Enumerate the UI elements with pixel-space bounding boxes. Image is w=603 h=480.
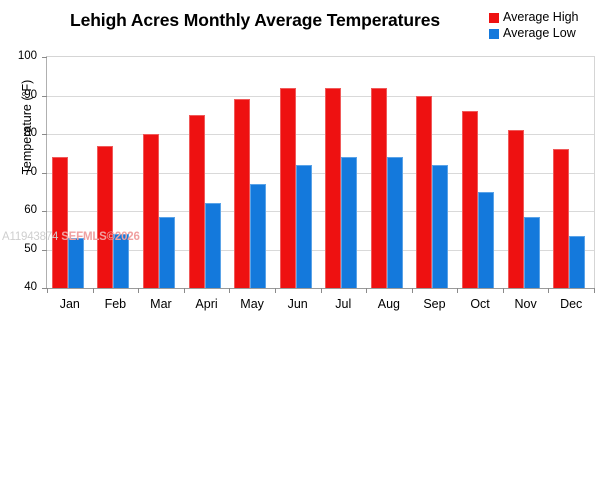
bar-average-low xyxy=(432,165,448,288)
gridline xyxy=(47,96,594,97)
legend-label-average-high: Average High xyxy=(503,11,579,24)
bar-average-low xyxy=(113,234,129,288)
x-axis-tick xyxy=(229,288,230,293)
y-axis-tick xyxy=(42,96,47,97)
x-axis-tick xyxy=(412,288,413,293)
y-axis-label: 70 xyxy=(3,166,37,178)
x-axis-label: Dec xyxy=(548,297,594,311)
bar-average-low xyxy=(387,157,403,288)
legend-swatch-average-high xyxy=(489,13,499,23)
y-axis-tick xyxy=(42,57,47,58)
bar-average-low xyxy=(341,157,357,288)
temperature-bar-chart: Lehigh Acres Monthly Average Temperature… xyxy=(0,0,603,480)
x-axis-label: Mar xyxy=(138,297,184,311)
bar-average-low xyxy=(524,217,540,288)
x-axis-label: Jun xyxy=(275,297,321,311)
bar-average-high xyxy=(280,88,296,288)
legend-swatch-average-low xyxy=(489,29,499,39)
x-axis-tick xyxy=(47,288,48,293)
x-axis-tick xyxy=(548,288,549,293)
x-axis-tick xyxy=(275,288,276,293)
x-axis-label: Sep xyxy=(412,297,458,311)
bar-average-high xyxy=(52,157,68,288)
chart-title: Lehigh Acres Monthly Average Temperature… xyxy=(55,10,455,31)
y-axis-label: 90 xyxy=(3,89,37,101)
x-axis-tick xyxy=(366,288,367,293)
x-axis-label: Jul xyxy=(321,297,367,311)
bar-average-high xyxy=(234,99,250,288)
bar-average-low xyxy=(205,203,221,288)
bar-average-high xyxy=(553,149,569,288)
bar-average-low xyxy=(569,236,585,288)
x-axis-tick xyxy=(321,288,322,293)
bar-average-low xyxy=(250,184,266,288)
y-axis-label: 80 xyxy=(3,127,37,139)
x-axis-tick xyxy=(184,288,185,293)
x-axis-tick xyxy=(138,288,139,293)
bar-average-low xyxy=(478,192,494,288)
bar-average-high xyxy=(508,130,524,288)
y-axis-label: 50 xyxy=(3,243,37,255)
chart-legend: Average High Average Low xyxy=(489,10,579,42)
x-axis-label: May xyxy=(229,297,275,311)
legend-label-average-low: Average Low xyxy=(503,27,576,40)
x-axis-label: Oct xyxy=(457,297,503,311)
y-axis-label: 100 xyxy=(3,50,37,62)
bar-average-high xyxy=(189,115,205,288)
x-axis-label: Aug xyxy=(366,297,412,311)
bar-average-high xyxy=(143,134,159,288)
y-axis-tick xyxy=(42,173,47,174)
bar-average-high xyxy=(325,88,341,288)
x-axis-label: Nov xyxy=(503,297,549,311)
bar-average-high xyxy=(416,96,432,289)
y-axis-label: 60 xyxy=(3,204,37,216)
x-axis-label: Jan xyxy=(47,297,93,311)
x-axis-tick xyxy=(457,288,458,293)
x-axis-tick xyxy=(503,288,504,293)
x-axis-label: Apri xyxy=(184,297,230,311)
plot-area: 405060708090100JanFebMarApriMayJunJulAug… xyxy=(46,56,595,289)
y-axis-tick xyxy=(42,134,47,135)
x-axis-label: Feb xyxy=(93,297,139,311)
y-axis-label: 40 xyxy=(3,281,37,293)
y-axis-tick xyxy=(42,211,47,212)
bar-average-low xyxy=(159,217,175,288)
bar-average-high xyxy=(371,88,387,288)
legend-item-average-low: Average Low xyxy=(489,26,579,41)
bar-average-high xyxy=(97,146,113,288)
legend-item-average-high: Average High xyxy=(489,10,579,25)
x-axis-tick xyxy=(594,288,595,293)
bar-average-low xyxy=(296,165,312,288)
y-axis-tick xyxy=(42,250,47,251)
x-axis-tick xyxy=(93,288,94,293)
bar-average-high xyxy=(462,111,478,288)
bar-average-low xyxy=(68,238,84,288)
